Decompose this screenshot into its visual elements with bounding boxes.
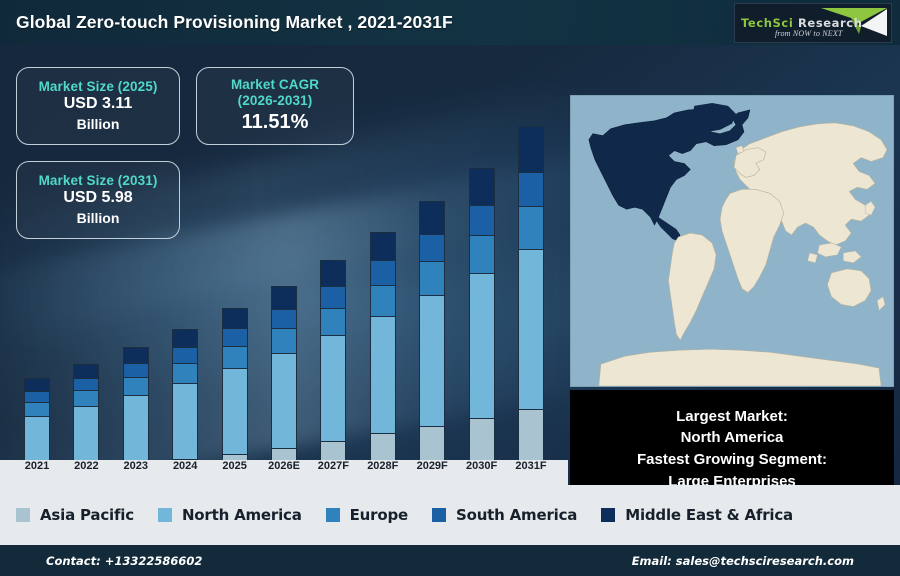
bar-segment-north-america	[222, 368, 248, 454]
bar-segment-middle-east-africa	[518, 126, 544, 172]
legend-swatch-icon	[16, 508, 30, 522]
bar-segment-north-america	[73, 406, 99, 468]
bar-segment-north-america	[419, 295, 445, 426]
legend-swatch-icon	[601, 508, 615, 522]
legend-label: South America	[456, 506, 577, 524]
axis-label-2024: 2024	[158, 460, 212, 472]
world-map-svg	[571, 96, 893, 386]
bar-2027F	[320, 260, 346, 485]
axis-label-2022: 2022	[59, 460, 113, 472]
axis-label-2026E: 2026E	[257, 460, 311, 472]
bar-segment-europe	[419, 261, 445, 295]
techsci-research-logo: TechSci Research from NOW to NEXT	[734, 3, 892, 43]
bar-segment-europe	[123, 377, 149, 395]
callout-largest-market-label: Largest Market:	[676, 406, 788, 428]
callout-fastest-segment-label: Fastest Growing Segment:	[637, 449, 827, 471]
legend-swatch-icon	[158, 508, 172, 522]
bar-2026E	[271, 286, 297, 485]
legend-item-europe[interactable]: Europe	[326, 506, 408, 524]
bar-2029F	[419, 201, 445, 485]
legend-item-north-america[interactable]: North America	[158, 506, 302, 524]
bar-segment-south-america	[370, 260, 396, 285]
bar-segment-europe	[370, 285, 396, 315]
bar-segment-south-america	[24, 391, 50, 402]
legend-swatch-icon	[432, 508, 446, 522]
footer-email: Email: sales@techsciresearch.com	[632, 554, 854, 568]
legend-swatch-icon	[326, 508, 340, 522]
bar-2028F	[370, 232, 396, 485]
logo-wordmark: TechSci Research	[741, 16, 863, 30]
bar-segment-south-america	[222, 328, 248, 346]
bar-segment-north-america	[469, 273, 495, 418]
logo-tagline: from NOW to NEXT	[775, 29, 843, 38]
chart-legend: Asia PacificNorth AmericaEuropeSouth Ame…	[0, 485, 900, 545]
page-title: Global Zero-touch Provisioning Market , …	[16, 12, 453, 33]
bar-segment-south-america	[271, 309, 297, 329]
bar-segment-middle-east-africa	[172, 329, 198, 347]
header-bar: Global Zero-touch Provisioning Market , …	[0, 0, 900, 45]
axis-label-2030F: 2030F	[455, 460, 509, 472]
legend-label: Asia Pacific	[40, 506, 134, 524]
axis-label-2025: 2025	[208, 460, 262, 472]
bar-segment-middle-east-africa	[419, 201, 445, 233]
legend-item-middle-east-africa[interactable]: Middle East & Africa	[601, 506, 793, 524]
bar-2031F	[518, 126, 544, 485]
chart-panel: Market Size (2025) USD 3.11 Billion Mark…	[0, 45, 900, 485]
bar-segment-europe	[320, 308, 346, 335]
bar-2030F	[469, 168, 495, 485]
legend-item-south-america[interactable]: South America	[432, 506, 577, 524]
bar-segment-europe	[222, 346, 248, 368]
bar-segment-europe	[73, 390, 99, 406]
axis-label-2028F: 2028F	[356, 460, 410, 472]
logo-text-techsci: TechSci	[741, 16, 793, 30]
axis-label-2023: 2023	[109, 460, 163, 472]
bar-segment-south-america	[172, 347, 198, 363]
bar-segment-north-america	[320, 335, 346, 441]
bar-segment-south-america	[123, 363, 149, 377]
bar-segment-south-america	[73, 378, 99, 391]
axis-label-2029F: 2029F	[405, 460, 459, 472]
bar-segment-north-america	[518, 249, 544, 409]
bar-segment-south-america	[469, 205, 495, 235]
axis-label-2021: 2021	[10, 460, 64, 472]
logo-text-research: Research	[793, 16, 862, 30]
legend-item-asia-pacific[interactable]: Asia Pacific	[16, 506, 134, 524]
legend-label: Middle East & Africa	[625, 506, 793, 524]
bar-segment-europe	[172, 363, 198, 383]
bar-segment-north-america	[370, 316, 396, 434]
bar-segment-north-america	[123, 395, 149, 464]
key-insights-callout: Largest Market: North America Fastest Gr…	[570, 390, 894, 485]
bar-segment-south-america	[320, 286, 346, 308]
footer-contact: Contact: +13322586602	[46, 554, 202, 568]
bar-segment-europe	[271, 328, 297, 353]
bar-segment-north-america	[172, 383, 198, 460]
bar-segment-middle-east-africa	[222, 308, 248, 328]
bar-segment-north-america	[271, 353, 297, 448]
axis-label-2027F: 2027F	[306, 460, 360, 472]
callout-largest-market-value: North America	[681, 427, 784, 449]
bar-segment-middle-east-africa	[320, 260, 346, 285]
bar-segment-europe	[469, 235, 495, 273]
legend-label: Europe	[350, 506, 408, 524]
bar-segment-middle-east-africa	[73, 364, 99, 378]
footer-bar: Contact: +13322586602 Email: sales@techs…	[0, 545, 900, 576]
bar-segment-south-america	[518, 172, 544, 206]
bar-segment-europe	[24, 402, 50, 416]
stacked-bar-chart	[0, 90, 568, 485]
bar-segment-middle-east-africa	[271, 286, 297, 309]
bar-segment-middle-east-africa	[370, 232, 396, 261]
bar-segment-middle-east-africa	[24, 378, 50, 391]
legend-label: North America	[182, 506, 302, 524]
bar-segment-middle-east-africa	[469, 168, 495, 204]
axis-label-2031F: 2031F	[504, 460, 558, 472]
bar-segment-europe	[518, 206, 544, 248]
bar-segment-south-america	[419, 234, 445, 261]
world-map	[570, 95, 894, 387]
bar-2025	[222, 308, 248, 485]
callout-fastest-segment-value: Large Enterprises	[668, 471, 796, 485]
bar-segment-middle-east-africa	[123, 347, 149, 363]
